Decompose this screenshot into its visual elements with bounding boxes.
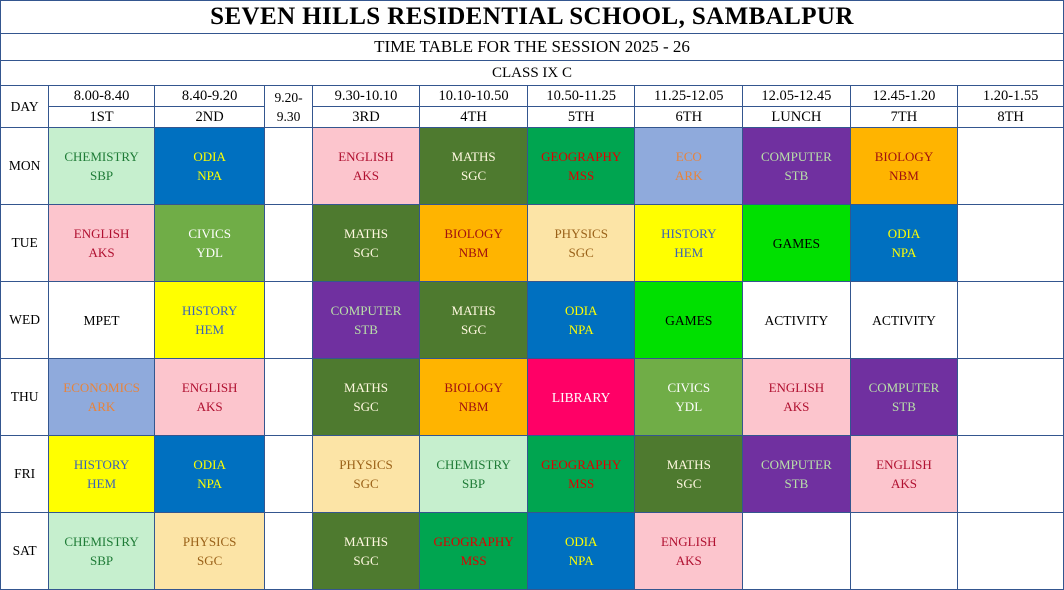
column-period-6: 5TH bbox=[527, 107, 635, 128]
subject-name: GEOGRAPHY bbox=[420, 532, 527, 551]
subject-name: MATHS bbox=[420, 147, 527, 166]
timetable-row-wed: WEDMPETHISTORYHEMCOMPUTERSTBMATHSSGCODIA… bbox=[1, 282, 1064, 359]
session-subtitle: TIME TABLE FOR THE SESSION 2025 - 26 bbox=[1, 34, 1064, 61]
teacher-code: AKS bbox=[635, 551, 742, 570]
empty-cell-mon-10 bbox=[958, 128, 1064, 205]
subject-name: ODIA bbox=[851, 224, 958, 243]
subject-name: PHYSICS bbox=[155, 532, 265, 551]
subject-name: MATHS bbox=[313, 378, 420, 397]
teacher-code: STB bbox=[313, 320, 420, 339]
class-cell-fri-7[interactable]: MATHSSGC bbox=[635, 436, 743, 513]
break-time-bottom: 9.30 bbox=[265, 107, 311, 126]
class-cell-thu-4[interactable]: MATHSSGC bbox=[312, 359, 420, 436]
class-cell-wed-1[interactable]: MPET bbox=[49, 282, 155, 359]
timetable-row-tue: TUEENGLISHAKSCIVICSYDLMATHSSGCBIOLOGYNBM… bbox=[1, 205, 1064, 282]
column-time-5: 10.10-10.50 bbox=[420, 86, 528, 107]
class-cell-wed-9[interactable]: ACTIVITY bbox=[850, 282, 958, 359]
empty-cell-fri-10 bbox=[958, 436, 1064, 513]
teacher-code: MSS bbox=[420, 551, 527, 570]
teacher-code: NPA bbox=[155, 474, 265, 493]
teacher-code: SGC bbox=[313, 397, 420, 416]
subject-name: GAMES bbox=[635, 311, 742, 330]
timetable-row-mon: MONCHEMISTRYSBPODIANPAENGLISHAKSMATHSSGC… bbox=[1, 128, 1064, 205]
teacher-code: NBM bbox=[851, 166, 958, 185]
subject-name: MPET bbox=[49, 311, 154, 330]
class-cell-mon-2[interactable]: ODIANPA bbox=[154, 128, 265, 205]
class-cell-thu-6[interactable]: LIBRARY bbox=[527, 359, 635, 436]
column-time-2: 8.40-9.20 bbox=[154, 86, 265, 107]
teacher-code: HEM bbox=[635, 243, 742, 262]
class-cell-sat-2[interactable]: PHYSICSSGC bbox=[154, 513, 265, 590]
class-cell-wed-2[interactable]: HISTORYHEM bbox=[154, 282, 265, 359]
class-cell-fri-6[interactable]: GEOGRAPHYMSS bbox=[527, 436, 635, 513]
day-name-sat: SAT bbox=[1, 513, 49, 590]
break-cell-mon bbox=[265, 128, 312, 205]
class-cell-fri-9[interactable]: ENGLISHAKS bbox=[850, 436, 958, 513]
class-cell-mon-5[interactable]: MATHSSGC bbox=[420, 128, 528, 205]
subject-name: CHEMISTRY bbox=[49, 147, 154, 166]
break-cell-fri bbox=[265, 436, 312, 513]
empty-cell-wed-10 bbox=[958, 282, 1064, 359]
teacher-code: SGC bbox=[420, 320, 527, 339]
subject-name: MATHS bbox=[635, 455, 742, 474]
column-time-7: 11.25-12.05 bbox=[635, 86, 743, 107]
teacher-code: SGC bbox=[528, 243, 635, 262]
subject-name: CHEMISTRY bbox=[420, 455, 527, 474]
teacher-code: SBP bbox=[49, 551, 154, 570]
subject-name: ENGLISH bbox=[743, 378, 850, 397]
class-cell-mon-6[interactable]: GEOGRAPHYMSS bbox=[527, 128, 635, 205]
teacher-code: ARK bbox=[635, 166, 742, 185]
teacher-code: AKS bbox=[851, 474, 958, 493]
day-name-fri: FRI bbox=[1, 436, 49, 513]
subject-name: COMPUTER bbox=[743, 147, 850, 166]
break-cell-wed bbox=[265, 282, 312, 359]
subject-name: ODIA bbox=[155, 455, 265, 474]
teacher-code: NPA bbox=[528, 320, 635, 339]
teacher-code: SBP bbox=[420, 474, 527, 493]
teacher-code: MSS bbox=[528, 474, 635, 493]
class-cell-wed-7[interactable]: GAMES bbox=[635, 282, 743, 359]
subject-name: ODIA bbox=[528, 532, 635, 551]
subject-name: MATHS bbox=[313, 224, 420, 243]
column-time-8: 12.05-12.45 bbox=[743, 86, 851, 107]
column-period-9: 7TH bbox=[850, 107, 958, 128]
subject-name: MATHS bbox=[420, 301, 527, 320]
subject-name: ENGLISH bbox=[635, 532, 742, 551]
teacher-code: NPA bbox=[851, 243, 958, 262]
class-cell-thu-7[interactable]: CIVICSYDL bbox=[635, 359, 743, 436]
teacher-code: SGC bbox=[155, 551, 265, 570]
class-cell-sat-5[interactable]: GEOGRAPHYMSS bbox=[420, 513, 528, 590]
break-cell-tue bbox=[265, 205, 312, 282]
page-title: SEVEN HILLS RESIDENTIAL SCHOOL, SAMBALPU… bbox=[1, 1, 1064, 34]
subject-name: ENGLISH bbox=[851, 455, 958, 474]
empty-cell-tue-10 bbox=[958, 205, 1064, 282]
class-cell-mon-4[interactable]: ENGLISHAKS bbox=[312, 128, 420, 205]
class-cell-tue-5[interactable]: BIOLOGYNBM bbox=[420, 205, 528, 282]
subject-name: ECO bbox=[635, 147, 742, 166]
teacher-code: HEM bbox=[49, 474, 154, 493]
class-cell-thu-2[interactable]: ENGLISHAKS bbox=[154, 359, 265, 436]
class-cell-fri-5[interactable]: CHEMISTRYSBP bbox=[420, 436, 528, 513]
title-row-school: SEVEN HILLS RESIDENTIAL SCHOOL, SAMBALPU… bbox=[1, 1, 1064, 34]
column-period-10: 8TH bbox=[958, 107, 1064, 128]
class-cell-thu-5[interactable]: BIOLOGYNBM bbox=[420, 359, 528, 436]
class-cell-tue-9[interactable]: ODIANPA bbox=[850, 205, 958, 282]
class-cell-tue-1[interactable]: ENGLISHAKS bbox=[49, 205, 155, 282]
column-time-4: 9.30-10.10 bbox=[312, 86, 420, 107]
day-name-wed: WED bbox=[1, 282, 49, 359]
timetable-sheet: SEVEN HILLS RESIDENTIAL SCHOOL, SAMBALPU… bbox=[0, 0, 1064, 588]
subject-name: ACTIVITY bbox=[851, 311, 958, 330]
teacher-code: SBP bbox=[49, 166, 154, 185]
teacher-code: NPA bbox=[155, 166, 265, 185]
break-cell-thu bbox=[265, 359, 312, 436]
subject-name: CIVICS bbox=[155, 224, 265, 243]
class-cell-sat-4[interactable]: MATHSSGC bbox=[312, 513, 420, 590]
subject-name: COMPUTER bbox=[851, 378, 958, 397]
class-cell-tue-7[interactable]: HISTORYHEM bbox=[635, 205, 743, 282]
class-cell-tue-4[interactable]: MATHSSGC bbox=[312, 205, 420, 282]
subject-name: ENGLISH bbox=[49, 224, 154, 243]
class-cell-tue-2[interactable]: CIVICSYDL bbox=[154, 205, 265, 282]
class-cell-mon-7[interactable]: ECOARK bbox=[635, 128, 743, 205]
class-cell-mon-9[interactable]: BIOLOGYNBM bbox=[850, 128, 958, 205]
timetable: SEVEN HILLS RESIDENTIAL SCHOOL, SAMBALPU… bbox=[0, 0, 1064, 590]
column-period-2: 2ND bbox=[154, 107, 265, 128]
column-period-4: 3RD bbox=[312, 107, 420, 128]
teacher-code: SGC bbox=[313, 474, 420, 493]
class-cell-wed-5[interactable]: MATHSSGC bbox=[420, 282, 528, 359]
day-header: DAY bbox=[1, 86, 49, 128]
subject-name: PHYSICS bbox=[313, 455, 420, 474]
class-cell-sat-7[interactable]: ENGLISHAKS bbox=[635, 513, 743, 590]
subject-name: ODIA bbox=[155, 147, 265, 166]
column-time-6: 10.50-11.25 bbox=[527, 86, 635, 107]
teacher-code: STB bbox=[851, 397, 958, 416]
subject-name: LIBRARY bbox=[528, 388, 635, 407]
subject-name: CHEMISTRY bbox=[49, 532, 154, 551]
subject-name: MATHS bbox=[313, 532, 420, 551]
empty-cell-sat-10 bbox=[958, 513, 1064, 590]
subject-name: GEOGRAPHY bbox=[528, 455, 635, 474]
break-time-top: 9.20- bbox=[265, 88, 311, 107]
class-cell-wed-4[interactable]: COMPUTERSTB bbox=[312, 282, 420, 359]
teacher-code: NBM bbox=[420, 243, 527, 262]
teacher-code: STB bbox=[743, 166, 850, 185]
day-name-tue: TUE bbox=[1, 205, 49, 282]
class-cell-tue-8[interactable]: GAMES bbox=[743, 205, 851, 282]
column-time-1: 8.00-8.40 bbox=[49, 86, 155, 107]
header-row-times: DAY8.00-8.408.40-9.209.20-9.309.30-10.10… bbox=[1, 86, 1064, 107]
title-row-class: CLASS IX C bbox=[1, 61, 1064, 86]
subject-name: ENGLISH bbox=[155, 378, 265, 397]
class-cell-mon-8[interactable]: COMPUTERSTB bbox=[743, 128, 851, 205]
teacher-code: HEM bbox=[155, 320, 265, 339]
column-time-10: 1.20-1.55 bbox=[958, 86, 1064, 107]
column-time-9: 12.45-1.20 bbox=[850, 86, 958, 107]
subject-name: COMPUTER bbox=[313, 301, 420, 320]
subject-name: COMPUTER bbox=[743, 455, 850, 474]
teacher-code: YDL bbox=[635, 397, 742, 416]
class-cell-thu-8[interactable]: ENGLISHAKS bbox=[743, 359, 851, 436]
class-cell-fri-1[interactable]: HISTORYHEM bbox=[49, 436, 155, 513]
timetable-row-sat: SATCHEMISTRYSBPPHYSICSSGCMATHSSGCGEOGRAP… bbox=[1, 513, 1064, 590]
subject-name: BIOLOGY bbox=[851, 147, 958, 166]
teacher-code: SGC bbox=[313, 551, 420, 570]
column-period-1: 1ST bbox=[49, 107, 155, 128]
class-cell-fri-8[interactable]: COMPUTERSTB bbox=[743, 436, 851, 513]
subject-name: GAMES bbox=[743, 234, 850, 253]
teacher-code: AKS bbox=[49, 243, 154, 262]
teacher-code: NPA bbox=[528, 551, 635, 570]
day-name-mon: MON bbox=[1, 128, 49, 205]
teacher-code: SGC bbox=[313, 243, 420, 262]
teacher-code: MSS bbox=[528, 166, 635, 185]
teacher-code: AKS bbox=[313, 166, 420, 185]
empty-cell-sat-9 bbox=[850, 513, 958, 590]
subject-name: GEOGRAPHY bbox=[528, 147, 635, 166]
class-cell-wed-8[interactable]: ACTIVITY bbox=[743, 282, 851, 359]
subject-name: ENGLISH bbox=[313, 147, 420, 166]
class-cell-thu-9[interactable]: COMPUTERSTB bbox=[850, 359, 958, 436]
empty-cell-thu-10 bbox=[958, 359, 1064, 436]
subject-name: PHYSICS bbox=[528, 224, 635, 243]
teacher-code: STB bbox=[743, 474, 850, 493]
subject-name: BIOLOGY bbox=[420, 224, 527, 243]
class-cell-thu-1[interactable]: ECONOMICSARK bbox=[49, 359, 155, 436]
class-cell-fri-2[interactable]: ODIANPA bbox=[154, 436, 265, 513]
day-name-thu: THU bbox=[1, 359, 49, 436]
column-period-7: 6TH bbox=[635, 107, 743, 128]
teacher-code: ARK bbox=[49, 397, 154, 416]
timetable-row-thu: THUECONOMICSARKENGLISHAKSMATHSSGCBIOLOGY… bbox=[1, 359, 1064, 436]
subject-name: HISTORY bbox=[635, 224, 742, 243]
subject-name: ACTIVITY bbox=[743, 311, 850, 330]
teacher-code: YDL bbox=[155, 243, 265, 262]
teacher-code: SGC bbox=[635, 474, 742, 493]
column-break-9-20-9-30: 9.20-9.30 bbox=[265, 86, 312, 128]
teacher-code: AKS bbox=[155, 397, 265, 416]
title-row-session: TIME TABLE FOR THE SESSION 2025 - 26 bbox=[1, 34, 1064, 61]
subject-name: ECONOMICS bbox=[49, 378, 154, 397]
class-cell-tue-6[interactable]: PHYSICSSGC bbox=[527, 205, 635, 282]
timetable-row-fri: FRIHISTORYHEMODIANPAPHYSICSSGCCHEMISTRYS… bbox=[1, 436, 1064, 513]
class-cell-mon-1[interactable]: CHEMISTRYSBP bbox=[49, 128, 155, 205]
class-cell-sat-6[interactable]: ODIANPA bbox=[527, 513, 635, 590]
header-row-periods: 1ST2ND3RD4TH5TH6THLUNCH7TH8TH bbox=[1, 107, 1064, 128]
break-cell-sat bbox=[265, 513, 312, 590]
empty-cell-sat-8 bbox=[743, 513, 851, 590]
column-period-8: LUNCH bbox=[743, 107, 851, 128]
class-cell-wed-6[interactable]: ODIANPA bbox=[527, 282, 635, 359]
teacher-code: NBM bbox=[420, 397, 527, 416]
subject-name: ODIA bbox=[528, 301, 635, 320]
class-cell-sat-1[interactable]: CHEMISTRYSBP bbox=[49, 513, 155, 590]
column-period-5: 4TH bbox=[420, 107, 528, 128]
teacher-code: AKS bbox=[743, 397, 850, 416]
subject-name: CIVICS bbox=[635, 378, 742, 397]
class-cell-fri-4[interactable]: PHYSICSSGC bbox=[312, 436, 420, 513]
subject-name: HISTORY bbox=[49, 455, 154, 474]
teacher-code: SGC bbox=[420, 166, 527, 185]
subject-name: BIOLOGY bbox=[420, 378, 527, 397]
class-label: CLASS IX C bbox=[1, 61, 1064, 86]
subject-name: HISTORY bbox=[155, 301, 265, 320]
